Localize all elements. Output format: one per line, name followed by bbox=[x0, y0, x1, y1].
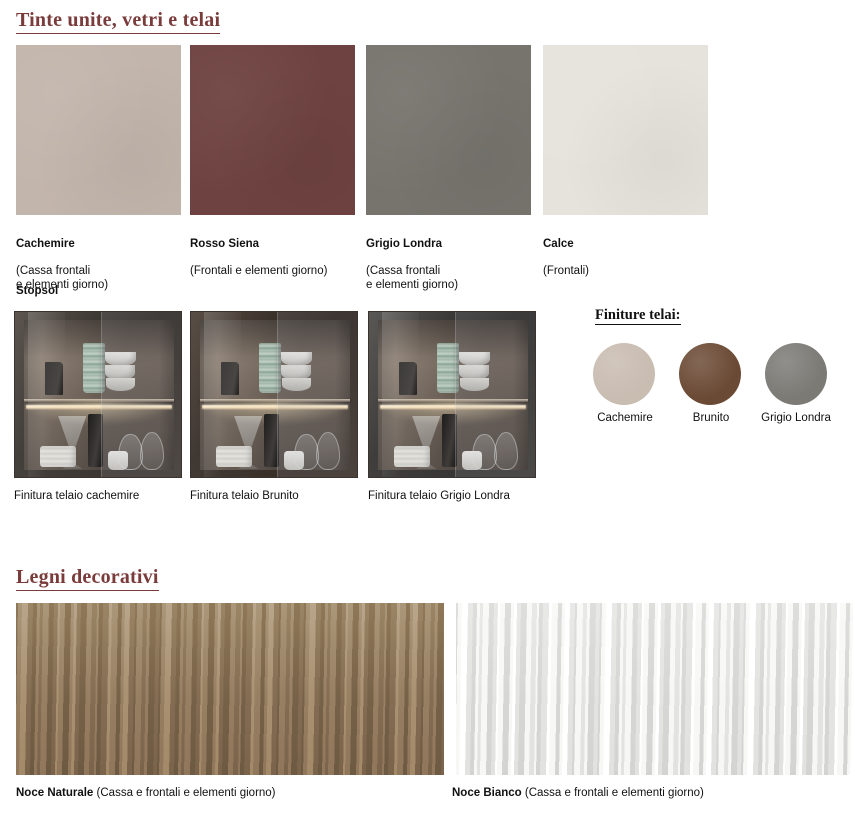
frame-finish-dot bbox=[679, 343, 741, 405]
wood-description: (Cassa e frontali e elementi giorno) bbox=[522, 787, 704, 799]
swatch-name: Cachemire bbox=[16, 238, 108, 251]
cognac-glass bbox=[472, 434, 497, 470]
frame-finish-cachemire bbox=[593, 343, 655, 405]
cabinet-photo-grigio-londra bbox=[368, 311, 536, 478]
color-swatch-caption-calce: Calce (Frontali) bbox=[543, 225, 589, 292]
cabinet-photo-image bbox=[191, 312, 357, 477]
color-swatch-fill bbox=[543, 45, 708, 215]
section-heading-tinte-unite: Tinte unite, vetri e telai bbox=[16, 9, 220, 34]
wood-caption-noce-bianco: Noce Bianco (Cassa e frontali e elementi… bbox=[452, 787, 704, 799]
green-glass-stack bbox=[259, 343, 281, 393]
cabinet-photo-image bbox=[15, 312, 181, 477]
cabinet-photo-caption-brunito: Finitura telaio Brunito bbox=[190, 490, 299, 502]
cabinet-photo-brunito bbox=[190, 311, 358, 478]
color-swatch-calce bbox=[543, 45, 708, 215]
cognac-glass bbox=[118, 434, 143, 470]
swatch-name: Rosso Siena bbox=[190, 238, 327, 251]
frame-finish-grigio-londra bbox=[765, 343, 827, 405]
frame-finish-dot bbox=[593, 343, 655, 405]
green-glass-stack bbox=[83, 343, 105, 393]
frame-finish-label-brunito: Brunito bbox=[682, 412, 740, 424]
frame-finish-dot bbox=[765, 343, 827, 405]
dark-box-object bbox=[221, 362, 239, 395]
dark-box-object bbox=[45, 362, 63, 395]
color-swatch-caption-rosso-siena: Rosso Siena (Frontali e elementi giorno) bbox=[190, 225, 327, 292]
finiture-telai-heading: Finiture telai: bbox=[595, 307, 681, 325]
wood-name: Noce Bianco bbox=[452, 787, 522, 799]
led-strip bbox=[26, 405, 172, 410]
color-swatch-grigio-londra bbox=[366, 45, 531, 215]
swatch-description: (Frontali e elementi giorno) bbox=[190, 265, 327, 278]
wood-caption-noce-naturale: Noce Naturale (Cassa e frontali e elemen… bbox=[16, 787, 276, 799]
color-swatch-fill bbox=[366, 45, 531, 215]
green-glass-stack bbox=[437, 343, 459, 393]
frame-finish-label-grigio-londra: Grigio Londra bbox=[752, 412, 840, 424]
swatch-name: Calce bbox=[543, 238, 589, 251]
dark-vase-object bbox=[88, 414, 103, 467]
cognac-glass bbox=[294, 434, 319, 470]
dark-box-object bbox=[399, 362, 417, 395]
dark-vase-object bbox=[442, 414, 457, 467]
color-swatch-caption-grigio-londra: Grigio Londra (Cassa frontali e elementi… bbox=[366, 225, 458, 305]
swatch-name: Grigio Londra bbox=[366, 238, 458, 251]
color-swatch-fill bbox=[190, 45, 355, 215]
color-swatch-rosso-siena bbox=[190, 45, 355, 215]
cabinet-photo-caption-cachemire: Finitura telaio cachemire bbox=[14, 490, 139, 502]
led-strip bbox=[380, 405, 526, 410]
white-bowl bbox=[282, 378, 310, 391]
wood-swatch-noce-naturale bbox=[16, 603, 444, 775]
white-bowl bbox=[460, 378, 488, 391]
swatch-description: (Cassa frontali e elementi giorno) bbox=[366, 265, 458, 292]
swatch-description: (Frontali) bbox=[543, 265, 589, 278]
frame-finish-label-cachemire: Cachemire bbox=[596, 412, 654, 424]
section-heading-legni-decorativi: Legni decorativi bbox=[16, 566, 159, 591]
white-bowl bbox=[106, 378, 134, 391]
color-swatch-cachemire bbox=[16, 45, 181, 215]
wood-swatch-noce-bianco bbox=[456, 603, 855, 775]
wood-swatch-texture bbox=[456, 603, 855, 775]
wood-swatch-texture bbox=[16, 603, 444, 775]
cabinet-photo-caption-grigio-londra: Finitura telaio Grigio Londra bbox=[368, 490, 510, 502]
dark-vase-object bbox=[264, 414, 279, 467]
cabinet-photo-image bbox=[369, 312, 535, 477]
wood-name: Noce Naturale bbox=[16, 787, 93, 799]
color-swatch-fill bbox=[16, 45, 181, 215]
stopsol-label: Stopsol bbox=[16, 285, 58, 297]
cabinet-photo-cachemire bbox=[14, 311, 182, 478]
frame-finish-brunito bbox=[679, 343, 741, 405]
led-strip bbox=[202, 405, 348, 410]
wood-description: (Cassa e frontali e elementi giorno) bbox=[93, 787, 275, 799]
